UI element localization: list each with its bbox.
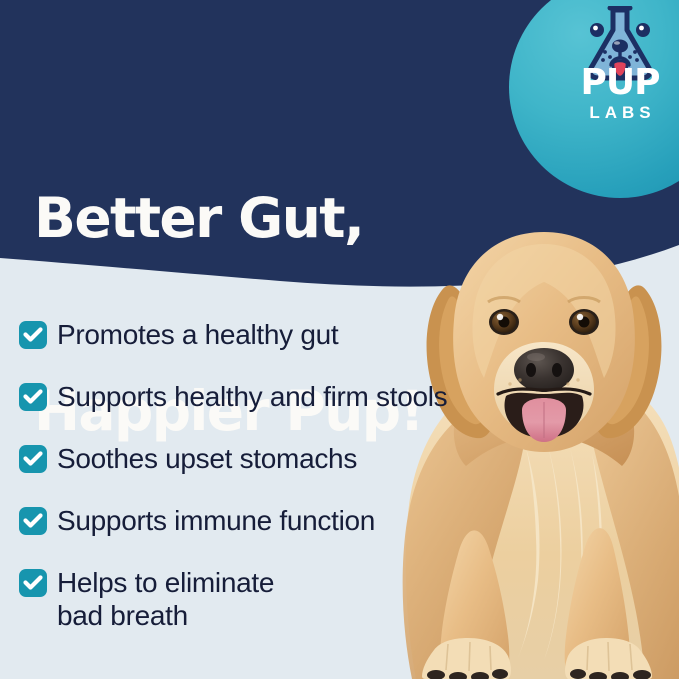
check-icon bbox=[19, 383, 47, 411]
headline-line-1: Better Gut, bbox=[34, 186, 423, 250]
brand-wordmark-pup: PUP bbox=[556, 65, 679, 101]
list-item: Supports immune function bbox=[19, 504, 519, 537]
check-icon bbox=[19, 507, 47, 535]
brand-logo: PUP LABS bbox=[556, 6, 679, 121]
product-benefits-card: PUP LABS Better Gut, Happier Pup! Promot… bbox=[0, 0, 679, 679]
benefit-label: Supports healthy and firm stools bbox=[57, 380, 447, 413]
check-icon bbox=[19, 445, 47, 473]
benefit-label: Supports immune function bbox=[57, 504, 375, 537]
check-icon bbox=[19, 321, 47, 349]
list-item: Supports healthy and firm stools bbox=[19, 380, 519, 413]
list-item: Soothes upset stomachs bbox=[19, 442, 519, 475]
benefits-list: Promotes a healthy gut Supports healthy … bbox=[19, 318, 519, 632]
check-icon bbox=[19, 569, 47, 597]
benefit-label: Promotes a healthy gut bbox=[57, 318, 338, 351]
benefit-label: Soothes upset stomachs bbox=[57, 442, 357, 475]
list-item: Promotes a healthy gut bbox=[19, 318, 519, 351]
brand-wordmark-labs: LABS bbox=[556, 104, 679, 121]
benefit-label: Helps to eliminate bad breath bbox=[57, 566, 274, 632]
brand-badge: PUP LABS bbox=[509, 0, 679, 198]
list-item: Helps to eliminate bad breath bbox=[19, 566, 519, 632]
